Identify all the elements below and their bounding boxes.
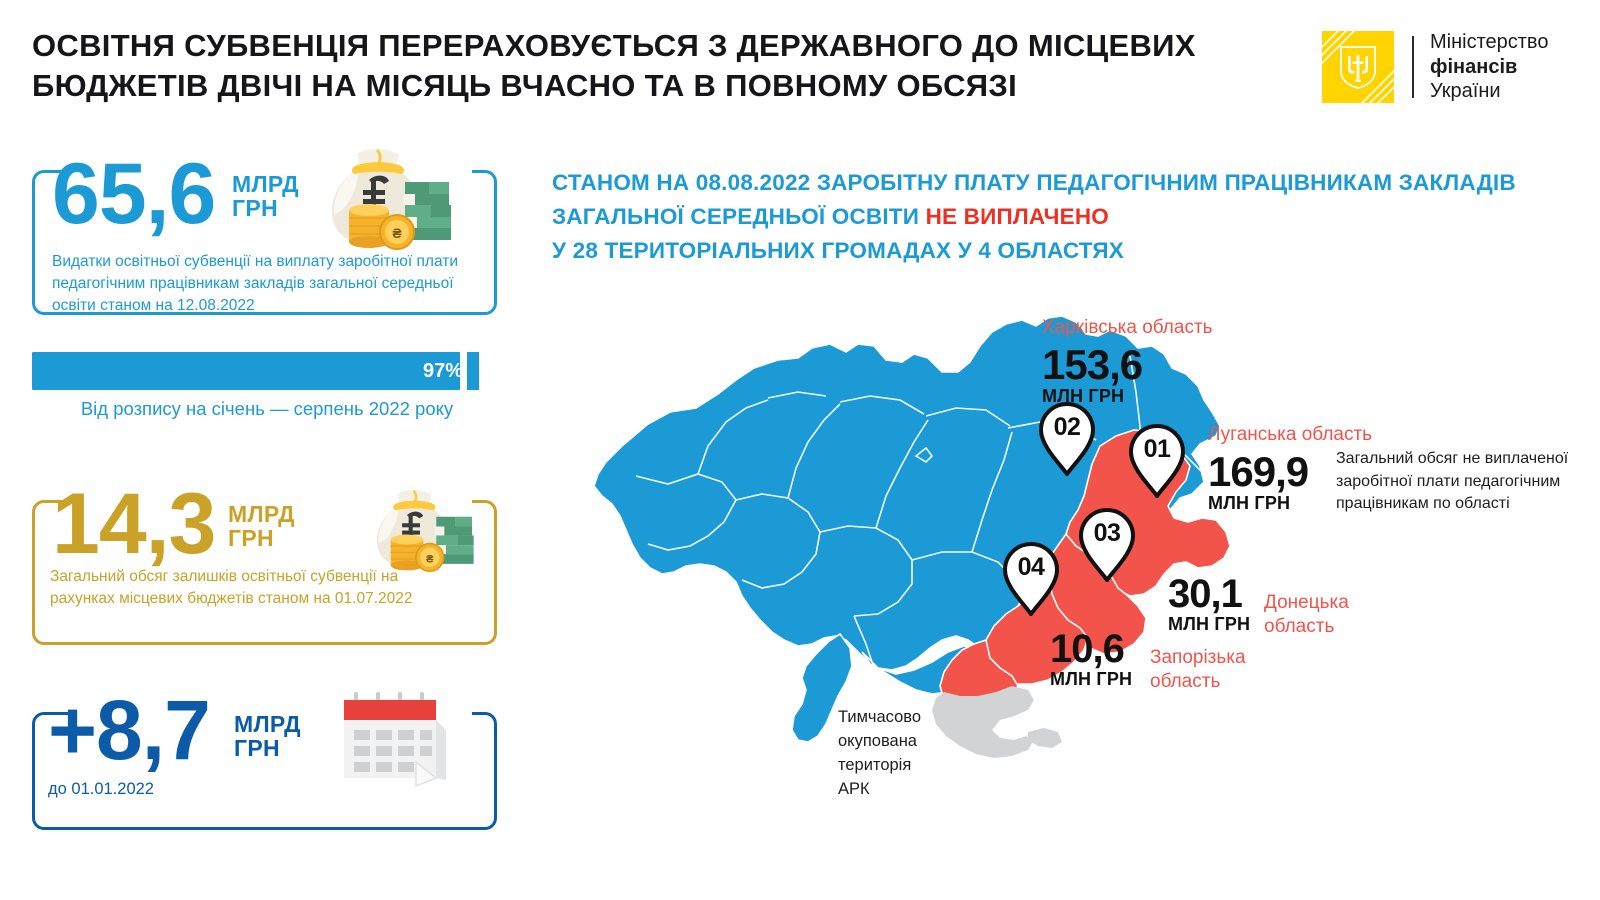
logo-divider	[1412, 36, 1414, 98]
infographic-canvas: ОСВІТНЯ СУБВЕНЦІЯ ПЕРЕРАХОВУЄТЬСЯ З ДЕРЖ…	[0, 0, 1600, 900]
map-pin-04[interactable]: 04	[1002, 542, 1060, 616]
stat-unit-line-1: МЛРД	[234, 712, 301, 736]
region-amount-unit-luhansk: МЛН ГРН	[1208, 493, 1290, 514]
stat-unit-line-1: МЛРД	[232, 172, 299, 196]
stat-description-65-6: Видатки освітньої субвенції на виплату з…	[52, 251, 472, 317]
map-pin-03[interactable]: 03	[1078, 508, 1136, 582]
logo-text-line-3: України	[1430, 79, 1548, 103]
svg-text:₴: ₴	[392, 225, 402, 241]
right-headline: СТАНОМ НА 08.08.2022 ЗАРОБІТНУ ПЛАТУ ПЕД…	[552, 166, 1532, 267]
crimea-occupied-note: ТимчасовоокупованатериторіяАРК	[838, 706, 988, 802]
region-note-luhansk: Загальний обсяг не виплаченої заробітної…	[1336, 448, 1586, 516]
stat-unit-65-6: МЛРД ГРН	[232, 172, 299, 220]
money-bag-icon: ₴	[305, 146, 465, 258]
page-title: ОСВІТНЯ СУБВЕНЦІЯ ПЕРЕРАХОВУЄТЬСЯ З ДЕРЖ…	[32, 26, 1262, 105]
map-pin-label: 04	[1002, 553, 1060, 582]
stat-unit-line-2: ГРН	[228, 526, 295, 550]
progress-caption: Від розпису на січень — серпень 2022 рок…	[32, 398, 502, 420]
stat-unit-line-2: ГРН	[234, 736, 301, 760]
stat-unit-14-3: МЛРД ГРН	[228, 502, 295, 550]
page-title-line-2: БЮДЖЕТІВ ДВІЧІ НА МІСЯЦЬ ВЧАСНО ТА В ПОВ…	[32, 66, 1262, 106]
logo-text-line-2: фінансів	[1430, 55, 1548, 79]
map-pin-label: 03	[1078, 519, 1136, 548]
region-label-kharkiv: Харківська область	[1042, 316, 1213, 340]
ukraine-trident-shield-icon	[1322, 31, 1394, 103]
region-amount-kharkiv: 153,6	[1042, 342, 1142, 388]
region-amount-unit-kharkiv: МЛН ГРН	[1042, 386, 1124, 407]
stat-unit-plus-8-7: МЛРД ГРН	[234, 712, 301, 760]
map-pin-02[interactable]: 02	[1038, 402, 1096, 476]
region-amount-unit-zaporizhzhia: МЛН ГРН	[1050, 669, 1132, 690]
logo-text-line-1: Міністерство	[1430, 30, 1548, 54]
stat-unit-line-2: ГРН	[232, 196, 299, 220]
map-pin-label: 01	[1128, 435, 1186, 464]
progress-bar-tail	[467, 352, 479, 390]
region-label-luhansk: Луганська область	[1208, 423, 1372, 447]
region-amount-luhansk: 169,9	[1208, 449, 1308, 495]
stat-value-plus-8-7: +8,7	[48, 688, 210, 772]
stat-description-14-3: Загальний обсяг залишків освітньої субве…	[50, 566, 450, 610]
stat-unit-line-1: МЛРД	[228, 502, 295, 526]
calendar-icon	[338, 690, 450, 794]
region-label-zaporizhzhia: Запорізькаобласть	[1150, 646, 1270, 694]
region-amount-unit-donetsk: МЛН ГРН	[1168, 614, 1250, 635]
right-headline-highlight: НЕ ВИПЛАЧЕНО	[926, 204, 1109, 229]
progress-percent-label: 97%	[423, 360, 463, 383]
map-pin-01[interactable]: 01	[1128, 424, 1186, 498]
trident-shield-glyph	[1338, 44, 1378, 90]
svg-text:₴: ₴	[426, 553, 434, 565]
region-amount-donetsk: 30,1	[1168, 572, 1242, 616]
progress-bar-fill	[32, 352, 460, 390]
region-label-donetsk: Донецькаобласть	[1264, 591, 1374, 639]
stat-value-14-3: 14,3	[52, 481, 215, 567]
region-amount-zaporizhzhia: 10,6	[1050, 627, 1124, 671]
page-title-line-1: ОСВІТНЯ СУБВЕНЦІЯ ПЕРЕРАХОВУЄТЬСЯ З ДЕРЖ…	[32, 26, 1262, 66]
right-headline-part-2: У 28 ТЕРИТОРІАЛЬНИХ ГРОМАДАХ У 4 ОБЛАСТЯ…	[552, 238, 1124, 263]
logo-text: Міністерство фінансів України	[1430, 30, 1548, 103]
stat-value-65-6: 65,6	[52, 151, 215, 237]
ministry-logo: Міністерство фінансів України	[1322, 28, 1582, 106]
map-pin-label: 02	[1038, 413, 1096, 442]
stat-description-plus-8-7: до 01.01.2022	[48, 778, 348, 801]
progress-bar: 97%	[32, 352, 487, 390]
